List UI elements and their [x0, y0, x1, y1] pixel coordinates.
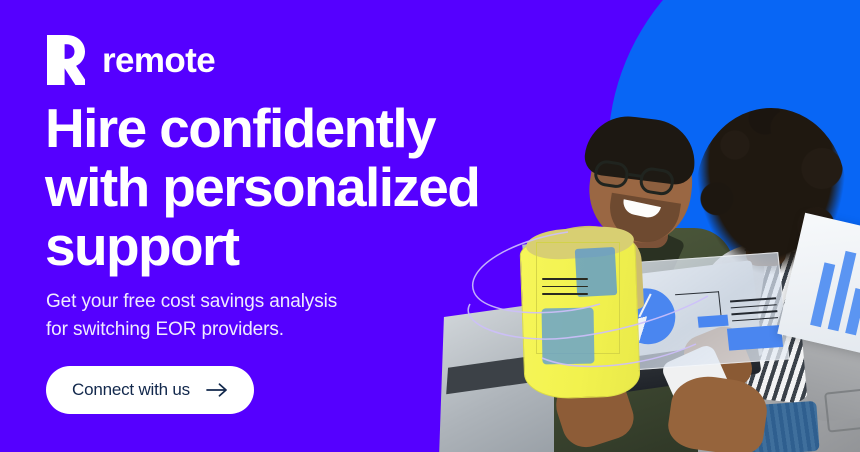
glasses-lens-right [638, 166, 676, 197]
subheadline: Get your free cost savings analysis for … [46, 288, 406, 344]
remote-r-logo-icon [44, 34, 88, 86]
connect-with-us-button[interactable]: Connect with us [46, 366, 254, 414]
headline-line-3: support [45, 215, 239, 277]
remote-promo-banner: remote Hire confidently with personalize… [0, 0, 860, 452]
remote-logo[interactable]: remote [44, 34, 215, 86]
glasses-lens-left [593, 159, 631, 190]
woman-blazer-pocket [824, 387, 860, 432]
bar [845, 288, 860, 335]
headline-line-2: with personalized [45, 156, 479, 218]
arrow-right-icon [206, 383, 228, 397]
page-title: Hire confidently with personalized suppo… [45, 99, 565, 276]
logo-wordmark: remote [102, 43, 215, 78]
subheadline-line-2: for switching EOR providers. [46, 319, 284, 340]
headline-line-1: Hire confidently [45, 97, 435, 159]
subheadline-line-1: Get your free cost savings analysis [46, 291, 337, 312]
cta-label: Connect with us [72, 380, 190, 400]
